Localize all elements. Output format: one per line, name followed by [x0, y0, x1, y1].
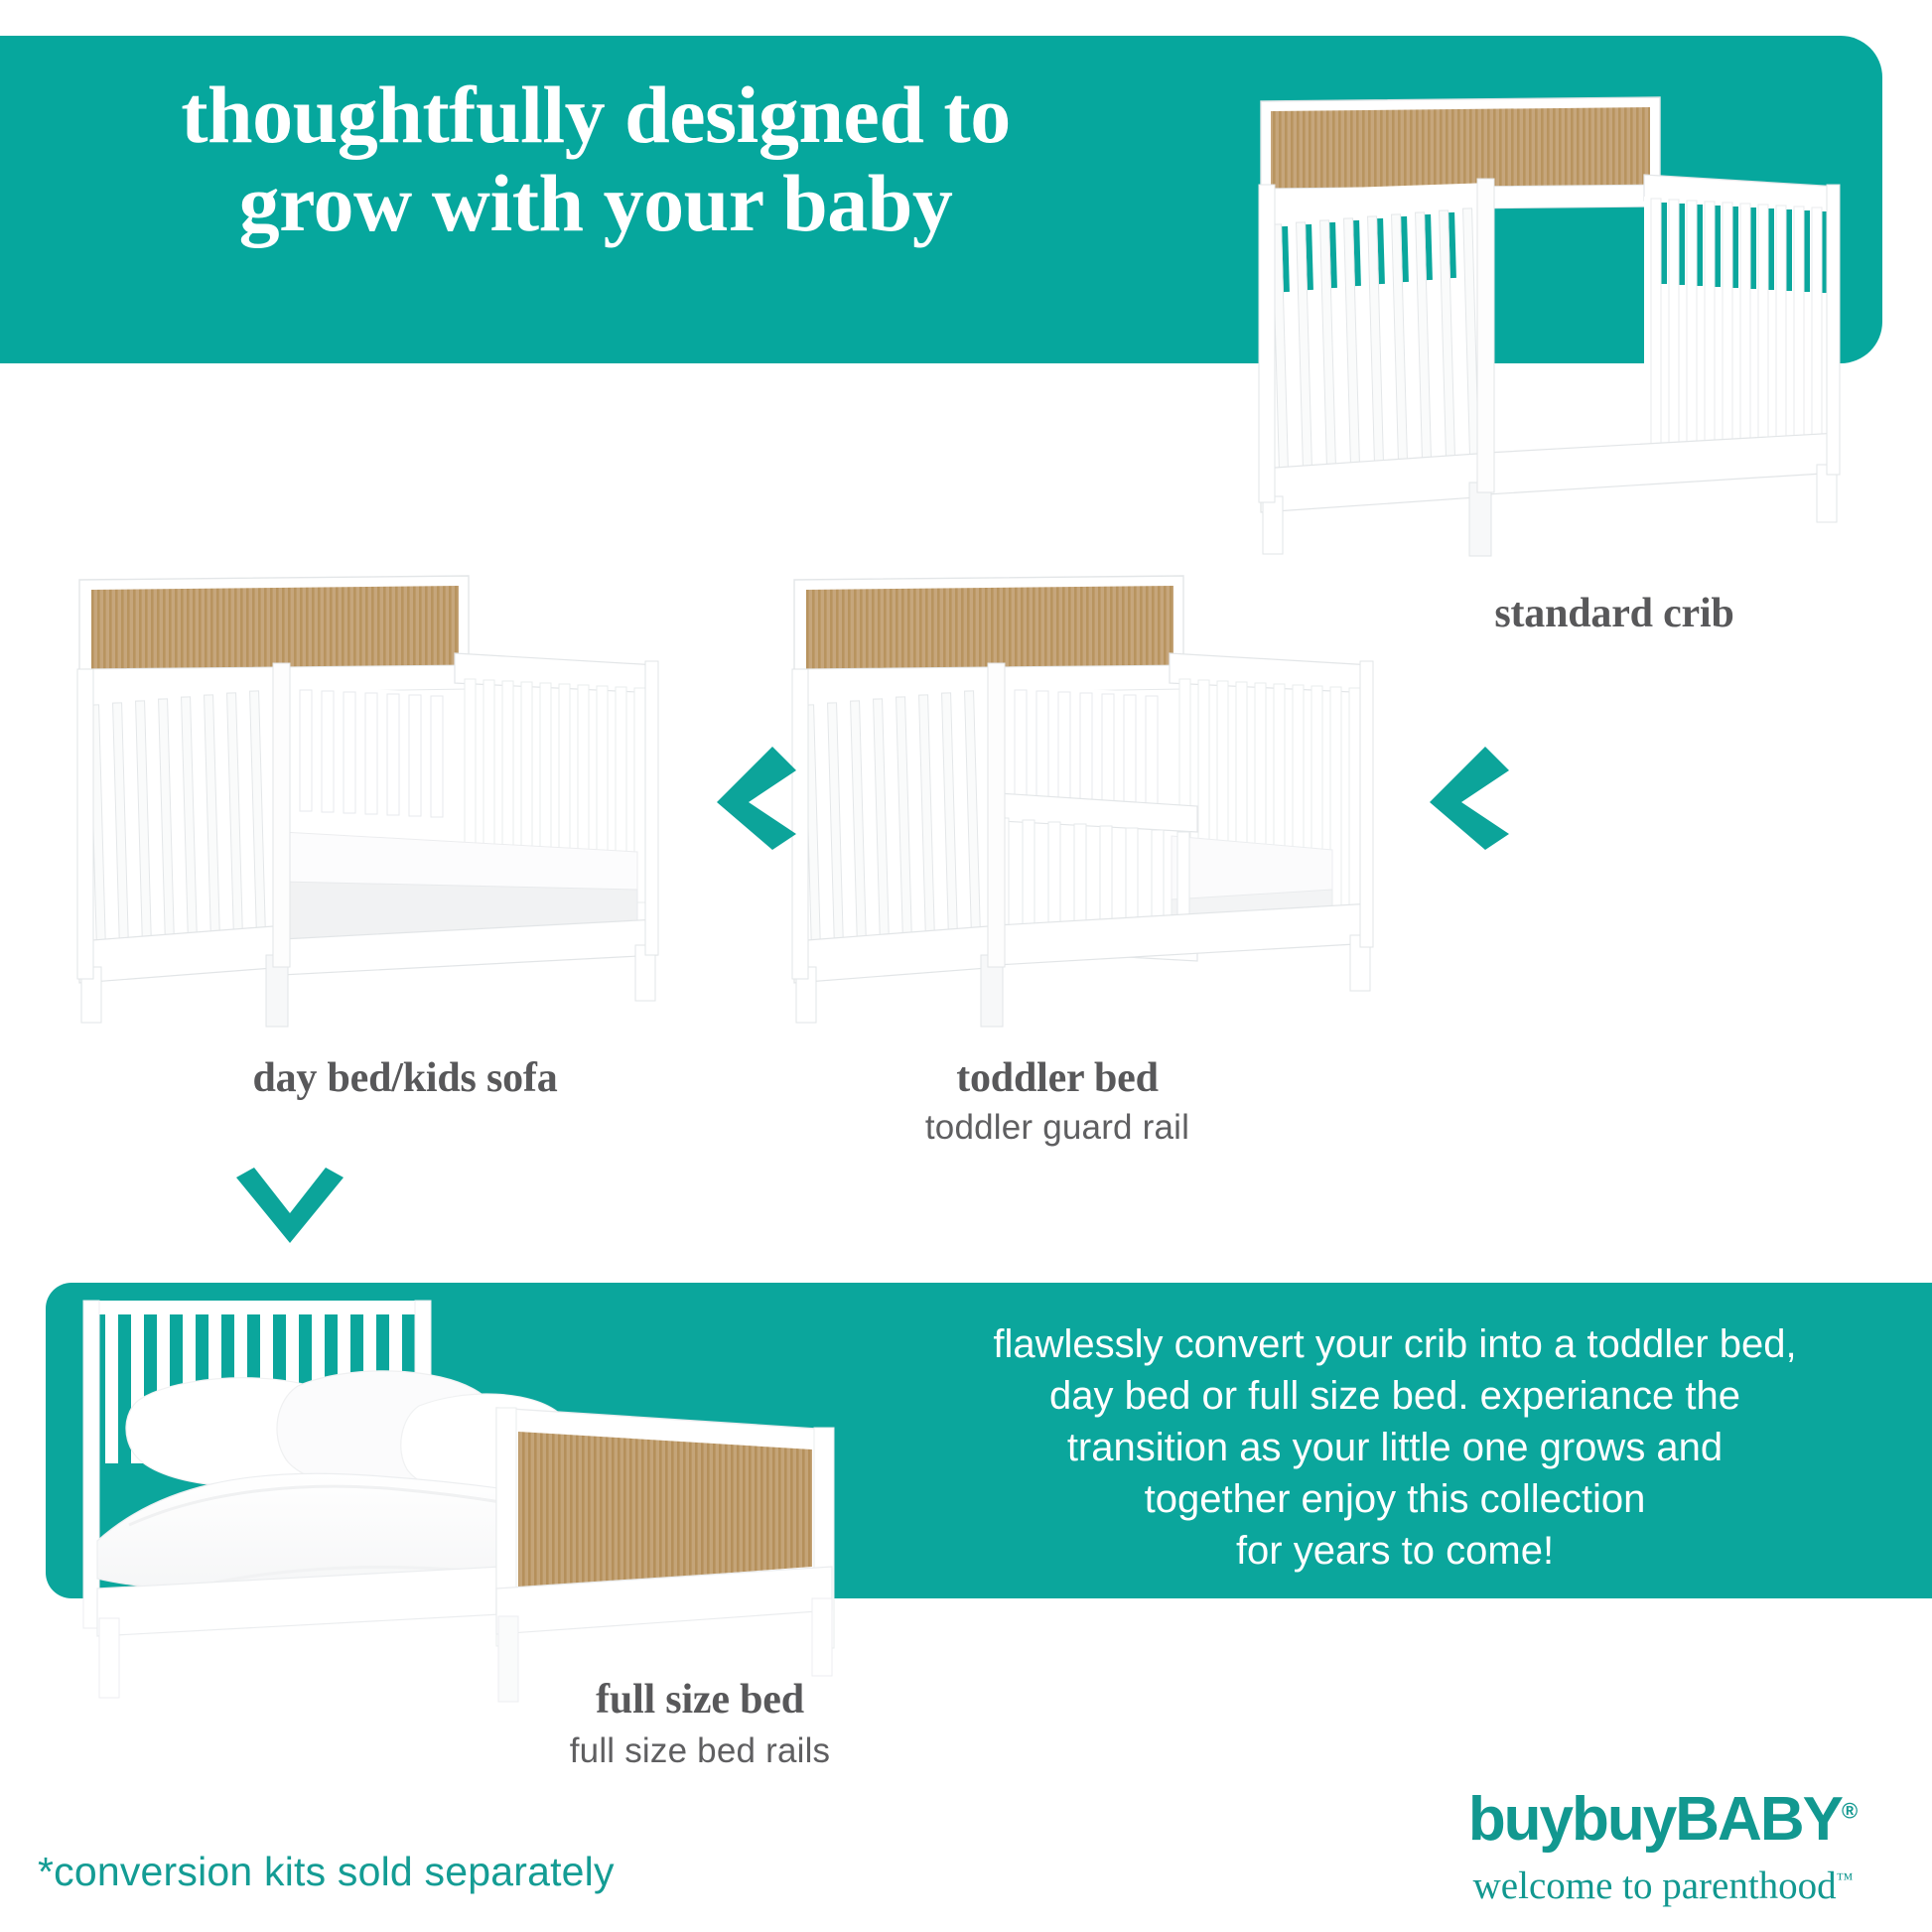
logo-wordmark-text: buybuyBABY	[1468, 1785, 1842, 1854]
arrow-daybed-to-fullsize	[230, 1164, 349, 1268]
product-image-standard-crib	[1243, 79, 1859, 586]
logo-wordmark: buybuyBABY®	[1430, 1789, 1896, 1851]
bottom-panel-copy: flawlessly convert your crib into a todd…	[923, 1318, 1866, 1577]
chevron-left-icon	[701, 741, 800, 850]
chevron-left-icon	[1414, 741, 1513, 850]
arrow-crib-to-toddler	[1414, 741, 1513, 855]
page-title: thoughtfully designed to grow with your …	[0, 71, 1191, 247]
logo-tagline-text: welcome to parenthood	[1473, 1864, 1837, 1907]
product-label-day-bed: day bed/kids sofa	[167, 1054, 643, 1102]
product-image-toddler-bed	[776, 566, 1402, 1042]
registered-trademark-icon: ®	[1842, 1798, 1858, 1823]
fullbed-footboard	[496, 1408, 834, 1648]
product-sublabel-full-size-bed: full size bed rails	[407, 1731, 993, 1771]
full-size-bed-illustration	[69, 1291, 854, 1727]
crib-end-slats	[1273, 208, 1479, 473]
product-label-standard-crib: standard crib	[1386, 590, 1843, 637]
product-sublabel-toddler-bed: toddler guard rail	[764, 1108, 1350, 1148]
infographic-canvas: thoughtfully designed to grow with your …	[0, 0, 1932, 1932]
product-label-toddler-bed: toddler bed	[764, 1054, 1350, 1102]
footnote-conversion-kits: *conversion kits sold separately	[38, 1849, 615, 1895]
brand-logo: buybuyBABY® welcome to parenthood™	[1430, 1789, 1896, 1905]
toddler-bed-illustration	[776, 566, 1402, 1042]
trademark-icon: ™	[1837, 1869, 1854, 1888]
arrow-toddler-to-daybed	[701, 741, 800, 855]
product-image-day-bed	[62, 566, 687, 1042]
standard-crib-illustration	[1243, 79, 1859, 586]
chevron-down-icon	[230, 1164, 349, 1263]
product-label-full-size-bed: full size bed	[407, 1676, 993, 1724]
logo-tagline: welcome to parenthood™	[1430, 1866, 1896, 1905]
crib-long-side-slats	[1644, 197, 1840, 457]
product-image-full-size-bed	[69, 1291, 854, 1727]
day-bed-illustration	[62, 566, 687, 1042]
